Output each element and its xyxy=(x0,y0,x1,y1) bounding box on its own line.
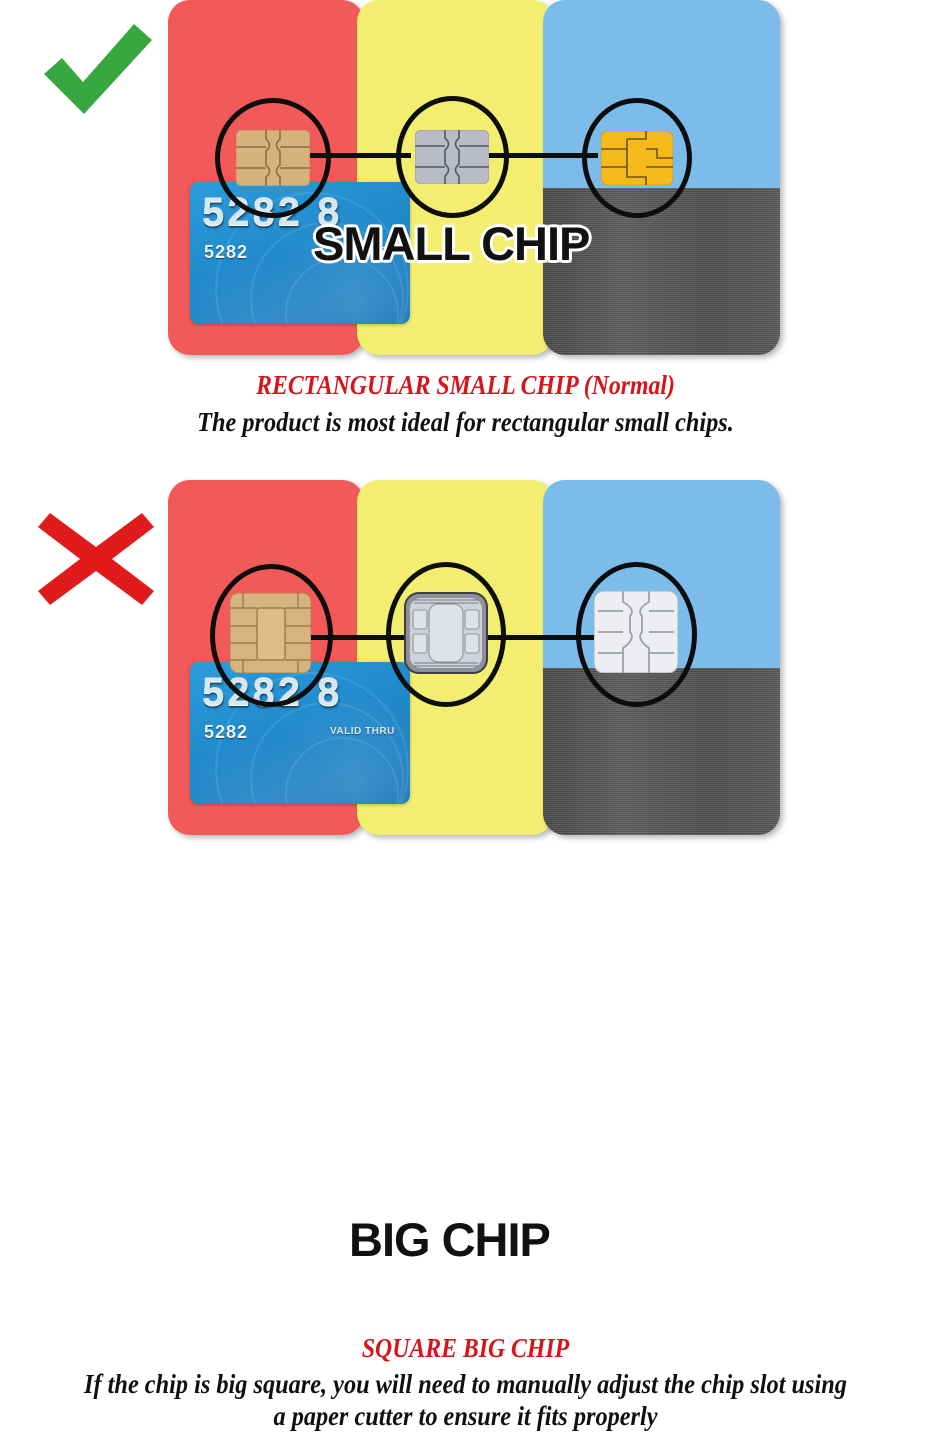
card-stack-big: 5282 8 5282 VALID THRU xyxy=(168,480,780,835)
caption-small-chip: RECTANGULAR SMALL CHIP (Normal) The prod… xyxy=(0,370,931,439)
chip-callout-red-big xyxy=(210,564,333,707)
silver-rectangular-chip xyxy=(415,130,489,184)
silver-square-chip xyxy=(404,592,488,674)
caption-line: a paper cutter to ensure it fits properl… xyxy=(47,1401,885,1433)
caption-body-big: If the chip is big square, you will need… xyxy=(47,1369,885,1433)
chip-callout-red-small xyxy=(215,98,331,218)
gold-rectangular-chip xyxy=(236,130,310,186)
caption-line: The product is most ideal for rectangula… xyxy=(47,407,885,439)
caption-big-chip: SQUARE BIG CHIP If the chip is big squar… xyxy=(0,1333,931,1433)
chip-callout-blue-big xyxy=(576,562,697,707)
gold-square-chip xyxy=(230,593,311,673)
small-chip-section: 5282 8 5282 VALID THRU xyxy=(0,0,931,480)
card-number-printed: 5282 xyxy=(204,722,248,743)
caption-title-small: RECTANGULAR SMALL CHIP (Normal) xyxy=(56,370,875,401)
green-check-icon xyxy=(36,22,156,130)
caption-body-small: The product is most ideal for rectangula… xyxy=(47,407,885,439)
white-square-chip xyxy=(594,591,678,673)
chip-callout-blue-small xyxy=(582,98,692,218)
card-valid-thru-label: VALID THRU xyxy=(330,726,395,737)
caption-title-big: SQUARE BIG CHIP xyxy=(56,1333,875,1364)
caption-line: If the chip is big square, you will need… xyxy=(47,1369,885,1401)
chip-callout-yellow-big xyxy=(386,562,506,707)
chip-callout-yellow-small xyxy=(396,96,509,218)
orange-rectangular-chip xyxy=(601,131,673,185)
card-number-printed: 5282 xyxy=(204,242,248,263)
headline-big-chip: BIG CHIP xyxy=(349,1212,550,1267)
big-chip-section: 5282 8 5282 VALID THRU xyxy=(0,480,931,960)
card-stack-small: 5282 8 5282 VALID THRU xyxy=(168,0,780,355)
headline-small-chip: SMALL CHIP xyxy=(313,216,589,271)
red-cross-icon xyxy=(36,505,156,613)
